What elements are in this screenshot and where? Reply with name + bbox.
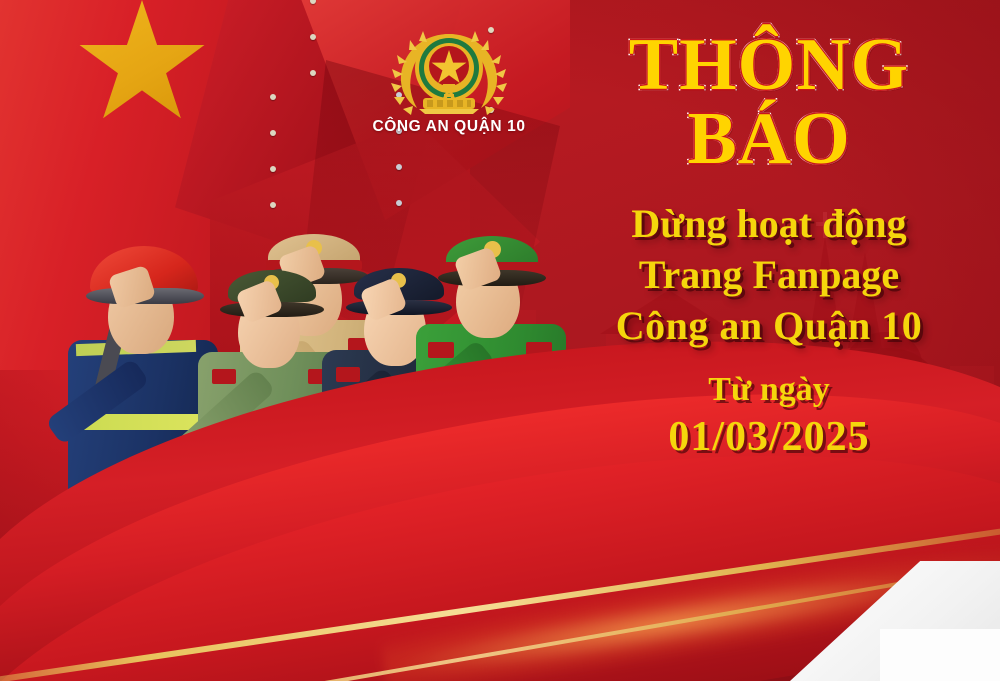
effective-date: 01/03/2025 bbox=[545, 413, 993, 461]
saluting-officers-photo bbox=[8, 150, 548, 550]
announcement-text-block: THÔNG BÁO THÔNG BÁO Dừng hoạt động Trang… bbox=[545, 28, 993, 461]
headline-line-3: Công an Quận 10 bbox=[545, 300, 993, 351]
emblem-caption: CÔNG AN QUẬN 10 bbox=[366, 118, 532, 136]
announcement-poster: CÔNG AN QUẬN 10 THÔNG BÁO THÔNG BÁO Dừng… bbox=[0, 0, 1000, 681]
poster-title: THÔNG BÁO bbox=[545, 28, 993, 176]
headline: Dừng hoạt động Trang Fanpage Công an Quậ… bbox=[545, 198, 993, 352]
from-date-label: Từ ngày bbox=[545, 370, 993, 409]
headline-line-2: Trang Fanpage bbox=[545, 249, 993, 300]
poster-title-outline: THÔNG BÁO THÔNG BÁO bbox=[545, 28, 993, 176]
police-emblem: CÔNG AN QUẬN 10 bbox=[366, 22, 532, 144]
headline-line-1: Dừng hoạt động bbox=[545, 198, 993, 249]
vietnam-public-security-emblem-icon bbox=[383, 22, 515, 116]
